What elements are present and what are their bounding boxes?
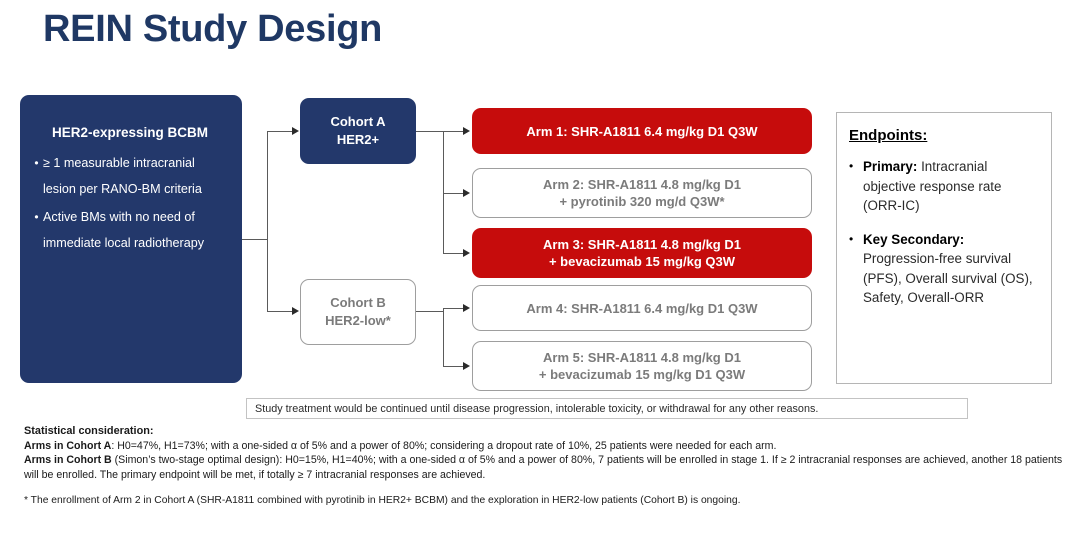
connector-cohort-b-vertical	[443, 308, 444, 366]
eligibility-item-text: ≥ 1 measurable intracranial lesion per R…	[43, 150, 230, 202]
arm-2-line2: + pyrotinib 320 mg/d Q3W*	[473, 193, 811, 210]
arm-2-line1: Arm 2: SHR-A1811 4.8 mg/kg D1	[473, 176, 811, 193]
arm-3-line1: Arm 3: SHR-A1811 4.8 mg/kg D1	[472, 236, 812, 253]
cohort-a-box: Cohort A HER2+	[300, 98, 416, 164]
statistical-consideration-heading: Statistical consideration:	[24, 424, 1064, 439]
arm-1-box: Arm 1: SHR-A1811 6.4 mg/kg D1 Q3W	[472, 108, 812, 154]
connector-eligibility-stem	[242, 239, 268, 240]
arrow-to-arm-5-icon	[463, 362, 470, 370]
cohort-b-box: Cohort B HER2-low*	[300, 279, 416, 345]
endpoints-heading: Endpoints:	[849, 127, 1041, 144]
endpoint-primary-label: Primary:	[863, 159, 917, 174]
arrow-to-arm-4-icon	[463, 304, 470, 312]
arm-2-box: Arm 2: SHR-A1811 4.8 mg/kg D1 + pyrotini…	[472, 168, 812, 218]
footnote-cohort-b-label: Arms in Cohort B	[24, 454, 112, 466]
connector-to-cohort-a	[267, 131, 293, 132]
eligibility-item-text: Active BMs with no need of immediate loc…	[43, 204, 230, 256]
footnote-cohort-b: Arms in Cohort B (Simon’s two-stage opti…	[24, 453, 1064, 482]
cohort-a-line1: Cohort A	[300, 113, 416, 131]
connector-to-arm-4	[443, 308, 464, 309]
connector-cohort-a-stem	[416, 131, 444, 132]
arm-3-line2: + bevacizumab 15 mg/kg Q3W	[472, 253, 812, 270]
connector-to-arm-2	[443, 193, 464, 194]
bullet-icon: •	[849, 230, 863, 308]
endpoint-item-key-secondary: • Key Secondary: Progression-free surviv…	[849, 230, 1041, 308]
footnote-asterisk-note: * The enrollment of Arm 2 in Cohort A (S…	[24, 494, 1064, 508]
endpoint-secondary-label: Key Secondary:	[863, 232, 964, 247]
connector-to-arm-3	[443, 253, 464, 254]
connector-branch-vertical	[267, 131, 268, 311]
arrow-to-cohort-b-icon	[292, 307, 299, 315]
connector-to-arm-5	[443, 366, 464, 367]
connector-to-arm-1	[443, 131, 464, 132]
arm-1-line1: Arm 1: SHR-A1811 6.4 mg/kg D1 Q3W	[472, 123, 812, 140]
footnotes-section: Statistical consideration: Arms in Cohor…	[24, 424, 1064, 508]
footnote-cohort-a-label: Arms in Cohort A	[24, 440, 111, 452]
arrow-to-arm-2-icon	[463, 189, 470, 197]
connector-cohort-a-vertical	[443, 131, 444, 253]
footnote-cohort-a: Arms in Cohort A: H0=47%, H1=73%; with a…	[24, 439, 1064, 454]
arm-4-box: Arm 4: SHR-A1811 6.4 mg/kg D1 Q3W	[472, 285, 812, 331]
arrow-to-arm-3-icon	[463, 249, 470, 257]
cohort-a-line2: HER2+	[300, 131, 416, 149]
eligibility-item: • Active BMs with no need of immediate l…	[30, 204, 230, 256]
eligibility-item: • ≥ 1 measurable intracranial lesion per…	[30, 150, 230, 202]
footnote-cohort-b-text: (Simon’s two-stage optimal design): H0=1…	[24, 454, 1062, 481]
connector-cohort-b-stem	[416, 311, 444, 312]
endpoint-primary-text: Primary: Intracranial objective response…	[863, 157, 1041, 216]
connector-to-cohort-b	[267, 311, 293, 312]
arm-5-line2: + bevacizumab 15 mg/kg D1 Q3W	[473, 366, 811, 383]
treatment-note-text: Study treatment would be continued until…	[255, 403, 818, 415]
bullet-icon: •	[30, 150, 43, 202]
endpoint-secondary-text: Key Secondary: Progression-free survival…	[863, 230, 1041, 308]
arm-4-line1: Arm 4: SHR-A1811 6.4 mg/kg D1 Q3W	[473, 300, 811, 317]
arrow-to-cohort-a-icon	[292, 127, 299, 135]
arm-3-box: Arm 3: SHR-A1811 4.8 mg/kg D1 + bevacizu…	[472, 228, 812, 278]
page-title: REIN Study Design	[43, 8, 382, 51]
arm-5-line1: Arm 5: SHR-A1811 4.8 mg/kg D1	[473, 349, 811, 366]
cohort-b-line1: Cohort B	[301, 294, 415, 312]
bullet-icon: •	[849, 157, 863, 216]
cohort-b-line2: HER2-low*	[301, 312, 415, 330]
arm-5-box: Arm 5: SHR-A1811 4.8 mg/kg D1 + bevacizu…	[472, 341, 812, 391]
treatment-continuation-note: Study treatment would be continued until…	[246, 398, 968, 419]
footnote-cohort-a-text: : H0=47%, H1=73%; with a one-sided α of …	[111, 440, 776, 452]
arrow-to-arm-1-icon	[463, 127, 470, 135]
endpoint-secondary-value: Progression-free survival (PFS), Overall…	[863, 251, 1033, 305]
endpoint-item-primary: • Primary: Intracranial objective respon…	[849, 157, 1041, 216]
bullet-icon: •	[30, 204, 43, 256]
endpoints-panel: Endpoints: • Primary: Intracranial objec…	[836, 112, 1052, 384]
eligibility-criteria-box: HER2-expressing BCBM • ≥ 1 measurable in…	[20, 95, 242, 383]
eligibility-heading: HER2-expressing BCBM	[30, 125, 230, 140]
